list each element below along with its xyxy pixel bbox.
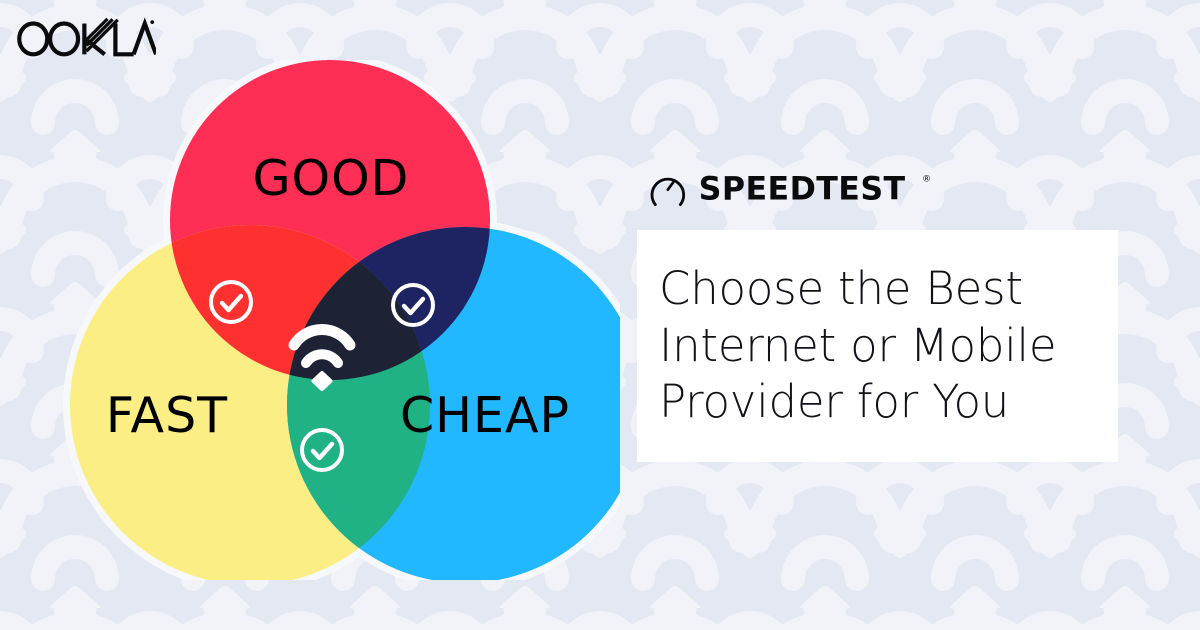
speedtest-logo[interactable]: SPEEDTEST ®: [647, 168, 1114, 208]
speedometer-icon: [652, 179, 684, 205]
headline-card: Choose the Best Internet or Mobile Provi…: [637, 230, 1118, 462]
headline-block: SPEEDTEST ® Choose the Best Internet or …: [637, 168, 1127, 462]
registered-mark: ®: [922, 173, 931, 184]
page-title: Choose the Best Internet or Mobile Provi…: [659, 261, 1118, 431]
speedtest-wordmark: SPEEDTEST: [699, 172, 906, 208]
poster-canvas: GOOD FAST CHEAP: [0, 0, 1200, 630]
venn-label-good: GOOD: [253, 150, 410, 207]
venn-label-cheap: CHEAP: [400, 387, 570, 444]
ookla-logo[interactable]: [16, 16, 156, 60]
venn-diagram: GOOD FAST CHEAP: [40, 60, 620, 580]
venn-label-fast: FAST: [106, 387, 228, 444]
